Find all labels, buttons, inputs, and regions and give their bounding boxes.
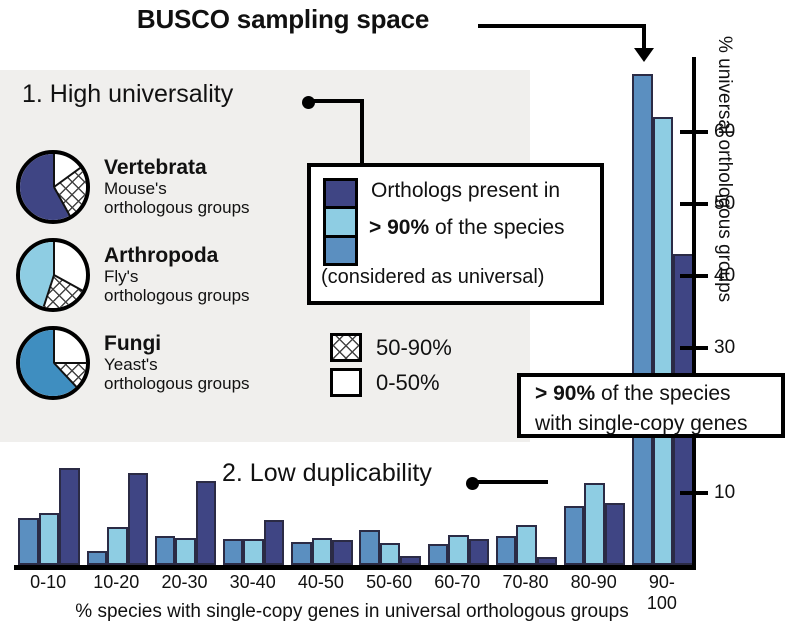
bar-0-10-1 — [39, 513, 60, 565]
pie-label-sub1: Mouse's — [104, 179, 250, 198]
callout-line-2: with single-copy genes — [535, 412, 747, 436]
pie-label-name: Fungi — [104, 333, 250, 355]
pie-separator-0 — [53, 242, 55, 275]
duplicability-connector-horizontal — [476, 480, 548, 484]
hatch-key-row-0: 50-90% — [330, 333, 452, 362]
x-tick-label-30-40: 30-40 — [230, 572, 276, 593]
pie-label-sub1: Fly's — [104, 267, 250, 286]
pie-separator-1 — [54, 362, 87, 364]
pie-label-sub2: orthologous groups — [104, 374, 250, 393]
x-tick-label-10-20: 10-20 — [93, 572, 139, 593]
y-tick-50 — [680, 202, 708, 206]
pie-chart-vertebrata — [16, 150, 90, 224]
x-tick-label-20-30: 20-30 — [161, 572, 207, 593]
bar-30-40-2 — [264, 520, 285, 566]
hatch-key-label: 50-90% — [376, 335, 452, 361]
legend-swatch-1 — [326, 206, 355, 234]
legend-swatch-0 — [326, 181, 355, 206]
bar-90-100-0 — [632, 74, 653, 565]
hatch-key-row-1: 0-50% — [330, 368, 452, 397]
legend-line-2-bold: > 90% — [369, 216, 429, 239]
universality-connector-horizontal — [312, 99, 364, 103]
pie-row-vertebrata: VertebrataMouse'sorthologous groups — [16, 150, 250, 224]
pie-label-sub1: Yeast's — [104, 355, 250, 374]
callout-line-1-bold: > 90% — [535, 382, 595, 405]
x-tick-label-70-80: 70-80 — [502, 572, 548, 593]
legend-line-1: Orthologs present in — [371, 179, 560, 203]
bar-50-60-2 — [400, 556, 421, 565]
bar-80-90-0 — [564, 506, 585, 565]
bar-80-90-2 — [605, 503, 626, 565]
bar-20-30-1 — [175, 538, 196, 565]
bar-20-30-0 — [155, 536, 176, 565]
bar-50-60-0 — [359, 530, 380, 565]
bar-30-40-0 — [223, 539, 244, 565]
panel-heading: 1. High universality — [22, 80, 233, 109]
bar-70-80-2 — [537, 557, 558, 565]
legend-line-3: (considered as universal) — [321, 266, 544, 289]
figure-root: BUSCO sampling space 1. High universalit… — [0, 0, 785, 629]
pie-label-name: Arthropoda — [104, 245, 250, 267]
pie-label-block: VertebrataMouse'sorthologous groups — [104, 157, 250, 217]
bar-70-80-0 — [496, 536, 517, 565]
bar-0-10-0 — [18, 518, 39, 565]
callout-line-1-rest: of the species — [595, 382, 730, 405]
bar-60-70-0 — [428, 544, 449, 565]
x-axis-tick-labels: 0-1010-2020-3030-4040-5050-6060-7070-808… — [14, 572, 696, 596]
y-tick-60 — [680, 130, 708, 134]
pie-label-name: Vertebrata — [104, 157, 250, 179]
y-tick-40 — [680, 274, 708, 278]
bar-40-50-1 — [312, 538, 333, 565]
y-tick-30 — [680, 346, 708, 350]
bar-50-60-1 — [380, 543, 401, 565]
pie-label-block: FungiYeast'sorthologous groups — [104, 333, 250, 393]
bar-30-40-1 — [243, 539, 264, 565]
bar-70-80-1 — [516, 525, 537, 565]
callout-line-1: > 90% of the species — [535, 382, 731, 406]
bar-40-50-0 — [291, 542, 312, 565]
pie-separator-0 — [53, 330, 55, 363]
bar-0-10-2 — [59, 468, 80, 566]
x-axis-title: % species with single-copy genes in univ… — [14, 601, 690, 623]
bar-90-100-1 — [653, 117, 674, 565]
bar-10-20-0 — [87, 551, 108, 565]
legend-color-swatches — [323, 178, 358, 266]
pie-label-sub2: orthologous groups — [104, 286, 250, 305]
legend-line-2: > 90% of the species — [369, 216, 565, 240]
universality-connector-vertical — [360, 99, 364, 167]
page-title: BUSCO sampling space — [88, 4, 478, 35]
x-tick-label-50-60: 50-60 — [366, 572, 412, 593]
single-copy-callout-box: > 90% of the species with single-copy ge… — [517, 373, 785, 438]
y-tick-label-10: 10 — [714, 482, 735, 504]
pie-row-arthropoda: ArthropodaFly'sorthologous groups — [16, 238, 250, 312]
bar-60-70-1 — [448, 535, 469, 565]
hatch-pattern-key: 50-90%0-50% — [330, 333, 452, 403]
universality-legend-box: Orthologs present in > 90% of the specie… — [307, 163, 604, 305]
y-tick-10 — [680, 491, 708, 495]
bar-10-20-1 — [107, 527, 128, 565]
x-tick-label-80-90: 80-90 — [571, 572, 617, 593]
legend-line-2-rest: of the species — [429, 216, 564, 239]
bar-10-20-2 — [128, 473, 149, 565]
pie-separator-0 — [53, 154, 55, 187]
pie-chart-fungi — [16, 326, 90, 400]
pie-row-fungi: FungiYeast'sorthologous groups — [16, 326, 250, 400]
x-tick-label-60-70: 60-70 — [434, 572, 480, 593]
x-tick-label-0-10: 0-10 — [30, 572, 66, 593]
y-axis-title: % universal orthologous groups — [713, 36, 735, 366]
pie-label-block: ArthropodaFly'sorthologous groups — [104, 245, 250, 305]
bar-60-70-2 — [469, 539, 490, 565]
bar-20-30-2 — [196, 481, 217, 566]
hatch-key-swatch-crosshatch — [330, 333, 362, 362]
title-connector-horizontal — [478, 24, 646, 28]
hatch-key-swatch-empty — [330, 368, 362, 397]
bar-80-90-1 — [584, 483, 605, 565]
hatch-key-label: 0-50% — [376, 370, 440, 396]
x-tick-label-40-50: 40-50 — [298, 572, 344, 593]
legend-swatch-2 — [326, 235, 355, 263]
pie-chart-arthropoda — [16, 238, 90, 312]
x-axis-line — [14, 565, 696, 570]
duplicability-heading: 2. Low duplicability — [222, 459, 432, 488]
pie-label-sub2: orthologous groups — [104, 198, 250, 217]
bar-40-50-2 — [332, 540, 353, 565]
